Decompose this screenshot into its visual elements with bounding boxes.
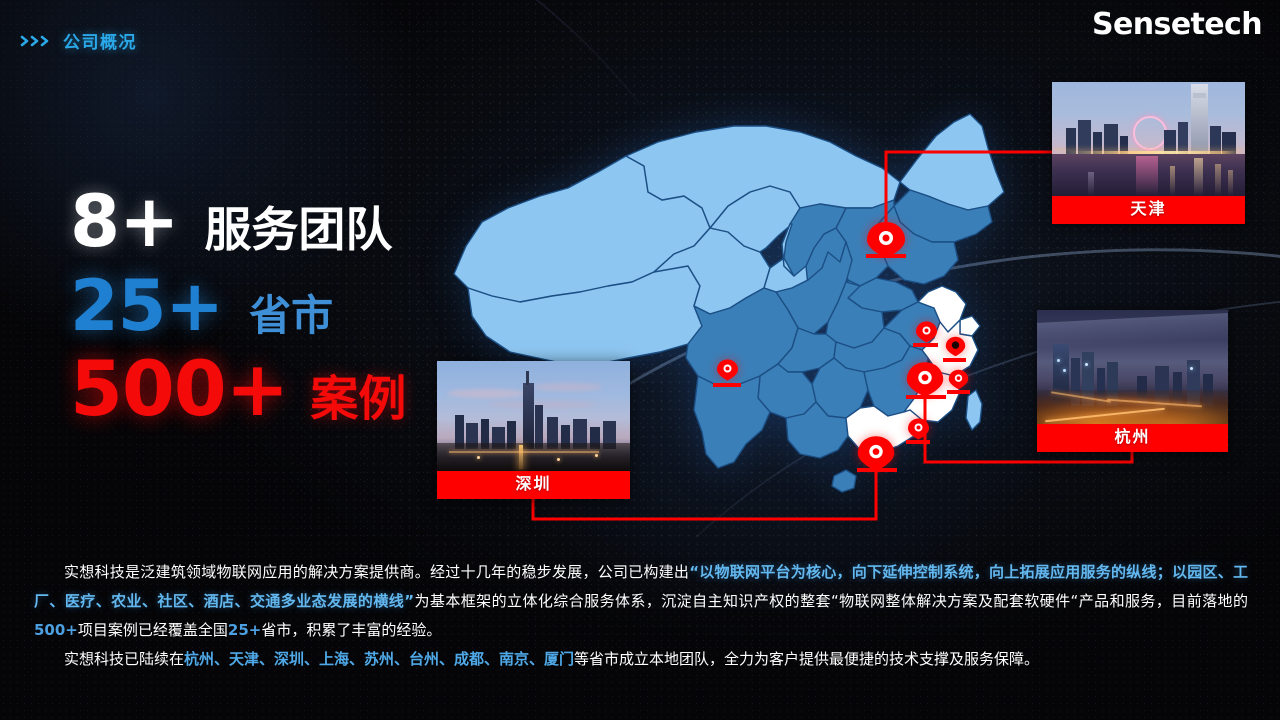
marker-chengdu[interactable] [714, 358, 741, 382]
marker-taizhou[interactable] [946, 368, 971, 391]
p1-part-a: 实想科技是泛建筑领域物联网应用的解决方案提供商。经过十几年的稳步发展，公司已构建… [64, 563, 689, 581]
slide-root: 公司概况 Sensetech 8+ 服务团队 25+ 省市 500+ 案例 [0, 0, 1280, 720]
card-caption: 天津 [1052, 196, 1245, 224]
card-caption: 杭州 [1037, 424, 1228, 452]
header-left-group: 公司概况 [20, 28, 137, 53]
p2-part-b: 等省市成立本地团队，全力为客户提供最便捷的技术支撑及服务保障。 [574, 650, 1039, 668]
stat-label: 案例 [310, 376, 406, 424]
p1-part-b: 为基本框架的立体化综合服务体系，沉淀自主知识产权的整套“物联网整体解决方案及配套… [414, 592, 1248, 610]
slide-header: 公司概况 Sensetech [0, 0, 1280, 62]
card-shenzhen[interactable]: 深圳 [437, 361, 630, 499]
marker-suzhou[interactable] [913, 320, 940, 344]
stat-label: 省市 [249, 295, 333, 337]
stats-block: 8+ 服务团队 25+ 省市 500+ 案例 [70, 185, 406, 427]
paragraph-2: 实想科技已陆续在杭州、天津、深圳、上海、苏州、台州、成都、南京、厦门等省市成立本… [34, 645, 1248, 674]
marker-tianjin[interactable] [862, 220, 910, 260]
paragraph-1: 实想科技是泛建筑领域物联网应用的解决方案提供商。经过十几年的稳步发展，公司已构建… [34, 558, 1248, 645]
stat-number: 500+ [70, 351, 288, 427]
stat-number: 25+ [70, 271, 223, 341]
p1-part-d: 省市，积累了丰富的经验。 [261, 621, 441, 639]
body-paragraphs: 实想科技是泛建筑领域物联网应用的解决方案提供商。经过十几年的稳步发展，公司已构建… [34, 558, 1248, 674]
stat-item-cases: 500+ 案例 [70, 351, 406, 427]
page-title: 公司概况 [63, 28, 137, 53]
stat-item-teams: 8+ 服务团队 [70, 185, 406, 257]
card-tianjin[interactable]: 天津 [1052, 82, 1245, 224]
p2-city-list: 杭州、天津、深圳、上海、苏州、台州、成都、南京、厦门 [184, 650, 574, 668]
photo-tianjin [1052, 82, 1245, 196]
marker-xiamen[interactable] [905, 417, 932, 441]
p1-number-cases: 500+ [34, 621, 78, 639]
marker-hangzhou[interactable] [902, 360, 948, 399]
p1-part-c: 项目案例已经覆盖全国 [78, 621, 228, 639]
photo-shenzhen [437, 361, 630, 471]
brand-logo: Sensetech [1092, 7, 1262, 42]
photo-hangzhou [1037, 310, 1228, 424]
p2-part-a: 实想科技已陆续在 [64, 650, 184, 668]
p1-number-provinces: 25+ [228, 621, 261, 639]
card-caption: 深圳 [437, 471, 630, 499]
stat-item-provinces: 25+ 省市 [70, 271, 406, 341]
marker-shanghai[interactable] [943, 335, 968, 358]
triple-chevron-right-icon [20, 34, 54, 48]
stat-number: 8+ [70, 185, 178, 257]
card-hangzhou[interactable]: 杭州 [1037, 310, 1228, 452]
marker-shenzhen[interactable] [853, 434, 899, 473]
stat-label: 服务团队 [204, 206, 392, 253]
